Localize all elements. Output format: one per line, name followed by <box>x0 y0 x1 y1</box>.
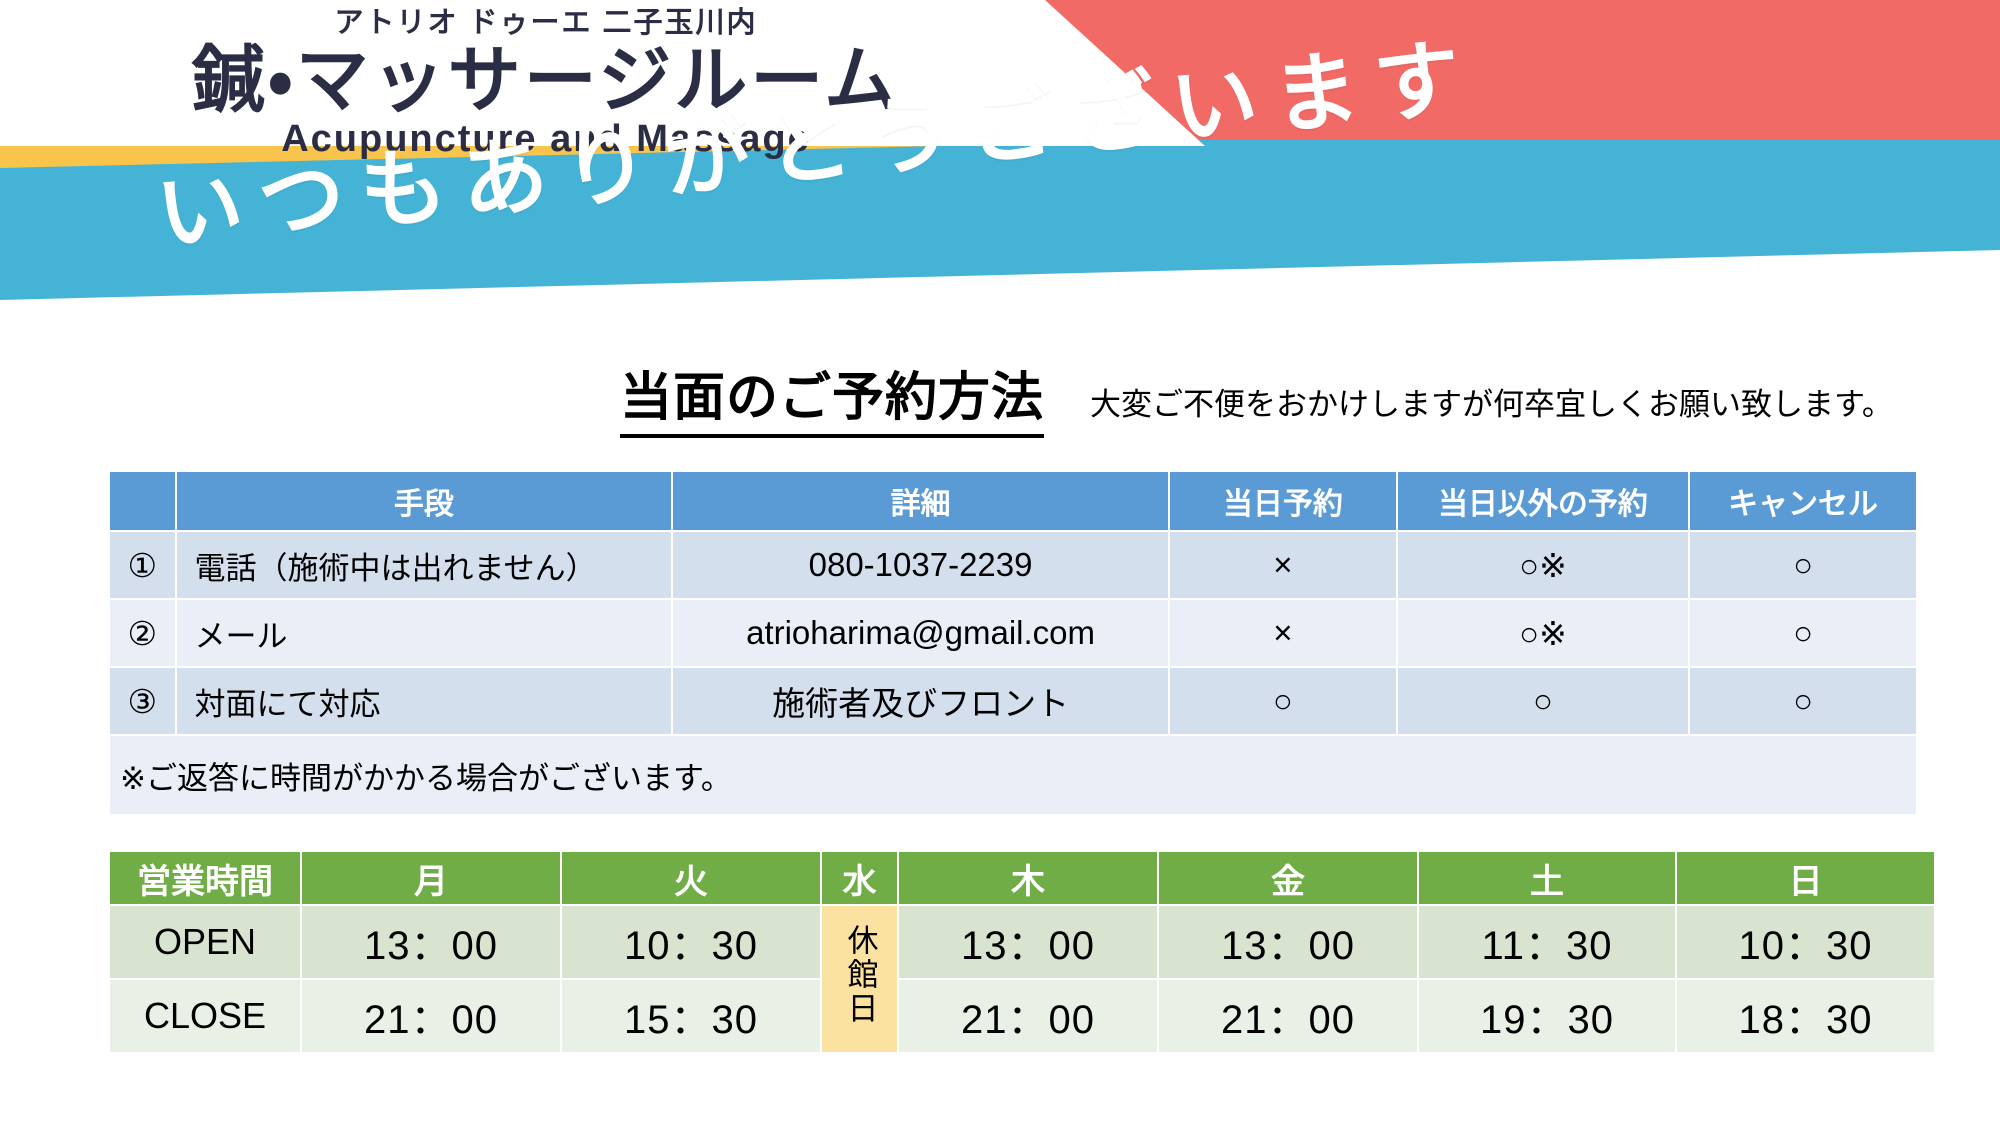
booking-footnote-row: ※ご返答に時間がかかる場合がございます。 <box>110 736 1916 814</box>
close-time-mon: 21：00 <box>302 980 560 1052</box>
booking-row-other-day: ○※ <box>1398 532 1688 598</box>
booking-row-same-day: × <box>1170 532 1396 598</box>
booking-row-cancel: ○ <box>1690 532 1916 598</box>
booking-row-means: メール <box>177 600 672 666</box>
hours-header-tue: 火 <box>562 852 820 904</box>
booking-header-blank <box>110 472 175 530</box>
hours-header-mon: 月 <box>302 852 560 904</box>
table-row: ② メール atrioharima@gmail.com × ○※ ○ <box>110 600 1916 666</box>
hours-close-row: CLOSE 21：00 15：30 21：00 21：00 19：30 18：3… <box>110 980 1934 1052</box>
booking-row-detail: 施術者及びフロント <box>673 668 1168 734</box>
section-heading: 当面のご予約方法 大変ご不便をおかけしますが何卒宜しくお願い致します。 <box>620 355 1893 438</box>
poster-canvas: アトリオ ドゥーエ 二子玉川内 鍼・マッサージルーム Acupuncture a… <box>0 0 2000 1125</box>
booking-row-detail: 080-1037-2239 <box>673 532 1168 598</box>
booking-row-other-day: ○※ <box>1398 600 1688 666</box>
open-time-sat: 11：30 <box>1419 906 1675 978</box>
hours-header-wed: 水 <box>822 852 897 904</box>
open-time-mon: 13：00 <box>302 906 560 978</box>
booking-row-number: ③ <box>110 668 175 734</box>
open-time-fri: 13：00 <box>1159 906 1417 978</box>
hours-header-label: 営業時間 <box>110 852 300 904</box>
section-title: 当面のご予約方法 <box>620 355 1044 438</box>
booking-header-cancel: キャンセル <box>1690 472 1916 530</box>
close-label: CLOSE <box>110 980 300 1052</box>
booking-row-detail: atrioharima@gmail.com <box>673 600 1168 666</box>
close-time-sat: 19：30 <box>1419 980 1675 1052</box>
business-hours-table: 営業時間 月 火 水 木 金 土 日 OPEN 13：00 10：30 休館日 … <box>108 850 1936 1054</box>
hours-header-fri: 金 <box>1159 852 1417 904</box>
section-note: 大変ご不便をおかけしますが何卒宜しくお願い致します。 <box>1090 379 1893 424</box>
booking-row-same-day: × <box>1170 600 1396 666</box>
booking-row-number: ① <box>110 532 175 598</box>
booking-header-other-day: 当日以外の予約 <box>1398 472 1688 530</box>
booking-row-cancel: ○ <box>1690 600 1916 666</box>
booking-header-row: 手段 詳細 当日予約 当日以外の予約 キャンセル <box>110 472 1916 530</box>
booking-footnote: ※ご返答に時間がかかる場合がございます。 <box>110 736 1916 814</box>
booking-row-number: ② <box>110 600 175 666</box>
open-time-thu: 13：00 <box>899 906 1157 978</box>
table-row: ① 電話（施術中は出れません） 080-1037-2239 × ○※ ○ <box>110 532 1916 598</box>
hours-header-row: 営業時間 月 火 水 木 金 土 日 <box>110 852 1934 904</box>
booking-header-same-day: 当日予約 <box>1170 472 1396 530</box>
closed-day-label: 休館日 <box>842 924 876 1026</box>
close-time-tue: 15：30 <box>562 980 820 1052</box>
table-row: ③ 対面にて対応 施術者及びフロント ○ ○ ○ <box>110 668 1916 734</box>
booking-row-means: 対面にて対応 <box>177 668 672 734</box>
hours-header-sun: 日 <box>1677 852 1934 904</box>
open-time-tue: 10：30 <box>562 906 820 978</box>
hours-open-row: OPEN 13：00 10：30 休館日 13：00 13：00 11：30 1… <box>110 906 1934 978</box>
closed-day-cell: 休館日 <box>822 906 897 1052</box>
booking-row-same-day: ○ <box>1170 668 1396 734</box>
hours-header-thu: 木 <box>899 852 1157 904</box>
booking-methods-table: 手段 詳細 当日予約 当日以外の予約 キャンセル ① 電話（施術中は出れません）… <box>108 470 1918 816</box>
close-time-thu: 21：00 <box>899 980 1157 1052</box>
booking-row-means: 電話（施術中は出れません） <box>177 532 672 598</box>
close-time-fri: 21：00 <box>1159 980 1417 1052</box>
booking-row-other-day: ○ <box>1398 668 1688 734</box>
booking-header-detail: 詳細 <box>673 472 1168 530</box>
hours-header-sat: 土 <box>1419 852 1675 904</box>
open-time-sun: 10：30 <box>1677 906 1934 978</box>
open-label: OPEN <box>110 906 300 978</box>
close-time-sun: 18：30 <box>1677 980 1934 1052</box>
booking-header-means: 手段 <box>177 472 672 530</box>
brand-kana-line: アトリオ ドゥーエ 二子玉川内 <box>86 8 1006 40</box>
booking-row-cancel: ○ <box>1690 668 1916 734</box>
